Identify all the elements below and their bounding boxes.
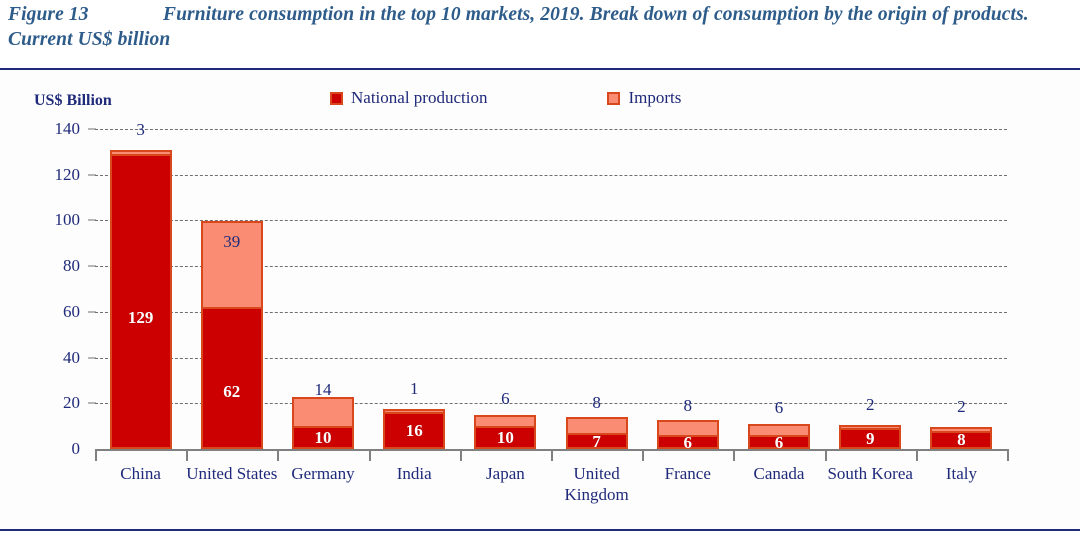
bar-stack[interactable]: 87 xyxy=(566,417,628,449)
x-axis-category-label: Italy xyxy=(916,463,1007,484)
bar-label-imports: 8 xyxy=(592,393,601,415)
x-axis-tick-mark xyxy=(916,449,918,461)
x-axis-category-label: Japan xyxy=(460,463,551,484)
bar-stack[interactable]: 610 xyxy=(474,415,536,449)
bar-label-imports: 14 xyxy=(314,380,331,402)
bar-group[interactable]: 1410 xyxy=(277,129,368,449)
x-axis-tick-mark xyxy=(95,449,97,461)
bar-group[interactable]: 66 xyxy=(733,129,824,449)
bar-label-imports: 8 xyxy=(684,396,693,418)
bar-label-imports: 6 xyxy=(501,389,510,411)
bar-label-imports: 39 xyxy=(223,232,240,254)
bar-label-imports: 2 xyxy=(866,395,875,417)
bar-stack[interactable]: 1410 xyxy=(292,397,354,449)
bar-label-imports: 3 xyxy=(136,120,145,142)
y-axis-tick-label: 40 xyxy=(63,348,80,368)
x-axis-tick-mark xyxy=(825,449,827,461)
y-axis-tick-label: 20 xyxy=(63,393,80,413)
x-axis-tick-mark xyxy=(733,449,735,461)
bar-stack[interactable]: 28 xyxy=(930,427,992,449)
x-axis-tick-mark xyxy=(277,449,279,461)
x-axis-category-label: Canada xyxy=(733,463,824,484)
bar-segment-national-production[interactable]: 10 xyxy=(292,426,354,449)
bar-label-imports: 1 xyxy=(410,379,419,401)
legend-item-imports[interactable]: Imports xyxy=(607,88,681,108)
x-axis-category-label: South Korea xyxy=(825,463,916,484)
x-axis-tick-mark xyxy=(642,449,644,461)
x-axis-category-label: United States xyxy=(186,463,277,484)
y-axis-tick-label: 100 xyxy=(55,210,81,230)
y-axis-tick-label: 60 xyxy=(63,302,80,322)
x-axis-tick-mark xyxy=(186,449,188,461)
bar-label-national-production: 9 xyxy=(866,430,875,447)
x-axis-tick-mark xyxy=(369,449,371,461)
x-axis-category-label: United Kingdom xyxy=(551,463,642,505)
bar-segment-national-production[interactable]: 129 xyxy=(110,154,172,449)
bar-segment-national-production[interactable]: 16 xyxy=(383,412,445,449)
figure-caption: Figure 13Furniture consumption in the to… xyxy=(8,2,1072,52)
y-axis-title: US$ Billion xyxy=(34,92,112,110)
legend-item-national-production[interactable]: National production xyxy=(330,88,487,108)
bar-group[interactable]: 3129 xyxy=(95,129,186,449)
x-axis-category-label: France xyxy=(642,463,733,484)
x-axis-category-label: Germany xyxy=(277,463,368,484)
bar-segment-imports[interactable]: 14 xyxy=(292,397,354,429)
figure-number: Figure 13 xyxy=(8,2,163,27)
chart-legend: National production Imports xyxy=(330,88,681,108)
x-axis-category-label: India xyxy=(369,463,460,484)
bar-series-layer: 3129396214101166108786662928 xyxy=(95,129,1007,449)
bar-group[interactable]: 87 xyxy=(551,129,642,449)
bar-group[interactable]: 3962 xyxy=(186,129,277,449)
bar-label-imports: 6 xyxy=(775,398,784,420)
bar-stack[interactable]: 3129 xyxy=(110,150,172,449)
x-axis-tick-mark xyxy=(551,449,553,461)
bar-stack[interactable]: 66 xyxy=(748,424,810,449)
legend-swatch-national-production-icon xyxy=(330,92,343,105)
bar-label-national-production: 8 xyxy=(957,431,966,448)
bar-group[interactable]: 29 xyxy=(825,129,916,449)
chart-container: US$ Billion National production Imports … xyxy=(0,68,1080,531)
bar-label-national-production: 7 xyxy=(592,433,601,450)
x-axis-category-label: China xyxy=(95,463,186,484)
legend-swatch-imports-icon xyxy=(607,92,620,105)
x-axis-tick-mark xyxy=(1007,449,1009,461)
bar-segment-national-production[interactable]: 9 xyxy=(839,428,901,449)
bar-label-national-production: 16 xyxy=(406,422,423,439)
bar-stack[interactable]: 29 xyxy=(839,425,901,449)
bar-segment-national-production[interactable]: 62 xyxy=(201,307,263,449)
y-axis-tick-label: 120 xyxy=(55,165,81,185)
y-axis-tick-label: 80 xyxy=(63,256,80,276)
y-axis-tick-label: 0 xyxy=(72,439,81,459)
legend-label-national-production: National production xyxy=(351,88,487,108)
bar-label-national-production: 10 xyxy=(314,429,331,446)
bar-group[interactable]: 116 xyxy=(369,129,460,449)
bar-stack[interactable]: 86 xyxy=(657,420,719,449)
x-axis-tick-mark xyxy=(460,449,462,461)
bar-label-national-production: 129 xyxy=(128,309,154,326)
bar-group[interactable]: 86 xyxy=(642,129,733,449)
y-axis-labels: 020406080100120140 xyxy=(0,129,88,449)
bar-segment-imports[interactable]: 39 xyxy=(201,221,263,310)
bar-segment-national-production[interactable]: 8 xyxy=(930,431,992,449)
x-axis-ticks xyxy=(95,449,1007,461)
bar-segment-national-production[interactable]: 6 xyxy=(748,435,810,449)
bar-stack[interactable]: 116 xyxy=(383,409,445,449)
bar-segment-national-production[interactable]: 6 xyxy=(657,435,719,449)
bar-segment-national-production[interactable]: 7 xyxy=(566,433,628,449)
bar-label-imports: 2 xyxy=(957,397,966,419)
bar-segment-national-production[interactable]: 10 xyxy=(474,426,536,449)
bar-group[interactable]: 28 xyxy=(916,129,1007,449)
bar-group[interactable]: 610 xyxy=(460,129,551,449)
legend-label-imports: Imports xyxy=(628,88,681,108)
x-axis-category-labels: ChinaUnited StatesGermanyIndiaJapanUnite… xyxy=(95,463,1007,523)
y-axis-tick-label: 140 xyxy=(55,119,81,139)
bar-stack[interactable]: 3962 xyxy=(201,221,263,449)
bar-label-national-production: 62 xyxy=(223,383,240,400)
bar-label-national-production: 10 xyxy=(497,429,514,446)
